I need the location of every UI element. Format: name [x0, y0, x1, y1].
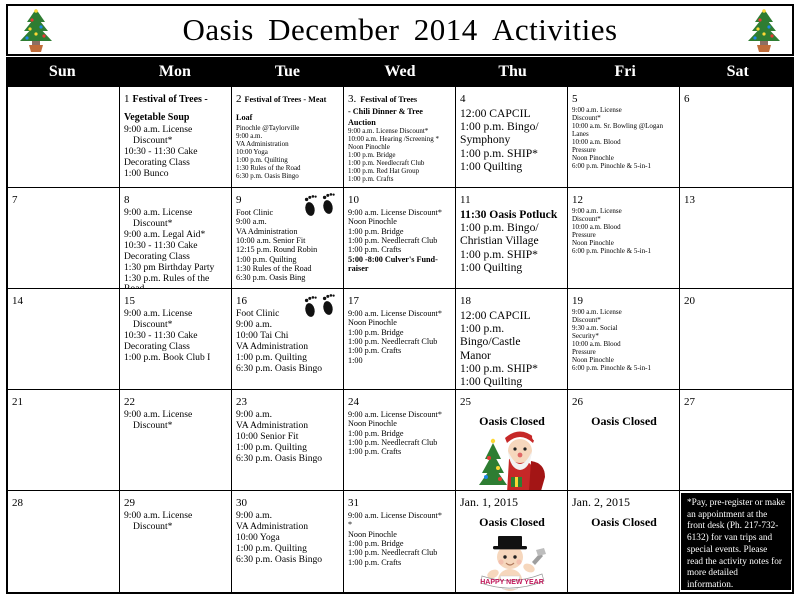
day-number: 26: [572, 396, 583, 408]
event-list: 11:30 Oasis Potluck1:00 p.m. Bingo/Chris…: [460, 208, 564, 274]
calendar-day-cell[interactable]: 109:00 a.m. License Discount*Noon Pinoch…: [344, 188, 456, 289]
day-header: 29: [124, 493, 228, 511]
day-number: 29: [124, 497, 135, 509]
calendar-day-cell[interactable]: 1812:00 CAPCIL1:00 p.m. Bingo/CastleMano…: [456, 289, 568, 390]
calendar-day-cell[interactable]: 27: [680, 390, 792, 491]
event-item[interactable]: 6:30 p.m. Oasis Bingo: [236, 173, 340, 181]
day-number: 23: [236, 396, 247, 408]
footprints-icon: [301, 190, 339, 220]
event-item[interactable]: 1:00 Bunco: [124, 169, 228, 180]
event-item[interactable]: 1:00 p.m. Bridge: [348, 539, 452, 548]
event-item[interactable]: 1:00 p.m. Bridge: [348, 328, 452, 337]
event-item[interactable]: 1:00 p.m. Needlecraft Club: [348, 337, 452, 346]
day-number: 4: [460, 93, 466, 105]
event-item[interactable]: VA Administration: [236, 227, 340, 236]
day-header: 2Festival of Trees - Meat Loaf: [236, 89, 340, 125]
event-item[interactable]: 9:00 a.m. License Discount*: [348, 208, 452, 217]
day-header: 14: [12, 291, 116, 309]
day-header: 10: [348, 190, 452, 208]
event-list: 9:00 a.m. License Discount**Noon Pinochl…: [348, 511, 452, 567]
event-item[interactable]: 6:30 p.m. Oasis Bingo: [236, 364, 340, 375]
day-title: Festival of Trees: [360, 95, 417, 104]
closed-label: Oasis Closed: [460, 414, 564, 429]
footprints-icon: [301, 291, 339, 321]
day-header: 5: [572, 89, 676, 107]
event-list: Pinochle @Taylorville9:00 a.m.VA Adminis…: [236, 125, 340, 181]
calendar-day-cell[interactable]: 7: [8, 188, 120, 289]
christmas-tree-icon-left: [14, 7, 58, 53]
event-item[interactable]: 6:30 p.m. Oasis Bingo: [236, 454, 340, 465]
event-item[interactable]: Noon Pinochle: [348, 318, 452, 327]
event-item[interactable]: 1:30 p.m. Rules of the Road: [124, 274, 228, 289]
event-item[interactable]: 1:00 p.m. Needlecraft Club: [348, 236, 452, 245]
day-header: 18: [460, 291, 564, 309]
event-item[interactable]: Noon Pinochle: [348, 419, 452, 428]
event-item[interactable]: 6:00 p.m. Pinochle & 5-in-1: [572, 163, 676, 171]
day-header: Jan. 2, 2015: [572, 493, 676, 511]
day-header: 7: [12, 190, 116, 208]
event-item[interactable]: 1:00 Quilting: [460, 375, 564, 388]
day-header: 25: [460, 392, 564, 410]
event-item[interactable]: 1:00 p.m. Bingo/Castle: [460, 322, 564, 348]
day-header: 4: [460, 89, 564, 107]
day-number: 25: [460, 396, 471, 408]
calendar-day-cell[interactable]: 6: [680, 87, 792, 188]
event-item[interactable]: Discount*: [124, 522, 228, 533]
day-number: 7: [12, 194, 18, 206]
day-header: 1Festival of Trees - Vegetable Soup: [124, 89, 228, 125]
weekday-wed: Wed: [344, 57, 457, 87]
day-number: 16: [236, 295, 247, 307]
event-item[interactable]: 1:00 Quilting: [460, 261, 564, 274]
event-list: 9:00 a.m. LicenseDiscount*10:30 - 11:30 …: [124, 125, 228, 180]
calendar-day-cell[interactable]: 59:00 a.m. License Discount*10:00 a.m. S…: [568, 87, 680, 188]
day-header: 28: [12, 493, 116, 511]
event-list: 9:00 a.m. License Discount*Noon Pinochle…: [348, 309, 452, 365]
event-list: 12:00 CAPCIL1:00 p.m. Bingo/Symphony1:00…: [460, 107, 564, 173]
event-list: 9:00 a.m. License Discount*10:00 a.m. He…: [348, 128, 452, 184]
day-header: 11: [460, 190, 564, 208]
event-item[interactable]: 1:00 p.m. Book Club I: [124, 353, 228, 364]
event-list: 9:00 a.m. License Discount*Noon Pinochle…: [348, 208, 452, 273]
day-header: Jan. 1, 2015: [460, 493, 564, 511]
day-number: 24: [348, 396, 359, 408]
day-number: 21: [12, 396, 23, 408]
event-item[interactable]: 1:00 p.m. Needlecraft Club: [348, 548, 452, 557]
event-item[interactable]: 9:00 a.m. License Discount*: [348, 309, 452, 318]
day-header: 3.Festival of Trees: [348, 89, 452, 107]
event-item[interactable]: 1:00 Quilting: [460, 160, 564, 173]
event-item[interactable]: 1:00 p.m. Crafts: [348, 447, 452, 456]
day-number: 13: [684, 194, 695, 206]
calendar-day-cell[interactable]: 179:00 a.m. License Discount*Noon Pinoch…: [344, 289, 456, 390]
day-number: 11: [460, 194, 471, 206]
event-item[interactable]: 1:00 p.m. Bingo/: [460, 221, 564, 234]
day-number: 22: [124, 396, 135, 408]
day-number: 2: [236, 93, 242, 105]
weekday-header-row: Sun Mon Tue Wed Thu Fri Sat: [6, 57, 794, 87]
event-item[interactable]: Discount*: [124, 421, 228, 432]
event-list: 9:00 a.m.VA Administration10:00 Senior F…: [236, 410, 340, 465]
calendar-day-cell[interactable]: [8, 87, 120, 188]
day-header: 15: [124, 291, 228, 309]
calendar-day-cell[interactable]: 199:00 a.m. License Discount*9:30 a.m. S…: [568, 289, 680, 390]
santa-icon: [473, 429, 551, 491]
calendar-day-cell[interactable]: 13: [680, 188, 792, 289]
day-number: 17: [348, 295, 359, 307]
day-number: 31: [348, 497, 359, 509]
calendar-day-cell[interactable]: 20: [680, 289, 792, 390]
event-item[interactable]: 5:00 -8:00 Culver's Fund-: [348, 255, 452, 264]
calendar-day-cell[interactable]: 28: [8, 491, 120, 592]
calendar-day-cell[interactable]: 319:00 a.m. License Discount**Noon Pinoc…: [344, 491, 456, 592]
calendar-day-cell[interactable]: 159:00 a.m. LicenseDiscount*10:30 - 11:3…: [120, 289, 232, 390]
event-item[interactable]: Christian Village: [460, 234, 564, 247]
weekday-fri: Fri: [569, 57, 682, 87]
event-item[interactable]: 1:00 p.m. Bridge: [348, 429, 452, 438]
day-number: 12: [572, 194, 583, 206]
event-item[interactable]: 1:00 p.m. Bridge: [348, 227, 452, 236]
day-number: 30: [236, 497, 247, 509]
event-list: 9:00 a.m. LicenseDiscount*: [124, 511, 228, 533]
event-item[interactable]: 11:30 Oasis Potluck: [460, 208, 564, 221]
event-list: 9:00 a.m.VA Administration10:00 Yoga1:00…: [236, 511, 340, 566]
event-item[interactable]: 1:00 p.m. SHIP*: [460, 248, 564, 261]
day-header: 27: [684, 392, 789, 410]
calendar-day-cell[interactable]: 26Oasis Closed: [568, 390, 680, 491]
day-header: 6: [684, 89, 789, 107]
weekday-tue: Tue: [231, 57, 344, 87]
event-list: 9:00 a.m. License Discount*Noon Pinochle…: [348, 410, 452, 457]
day-header: 12: [572, 190, 676, 208]
page-title: Oasis December 2014 Activities: [58, 12, 742, 48]
event-item[interactable]: 1:00 p.m. SHIP*: [460, 362, 564, 375]
event-item[interactable]: 10:00 a.m. Senior Fit: [236, 236, 340, 245]
calendar-day-cell[interactable]: 309:00 a.m.VA Administration10:00 Yoga1:…: [232, 491, 344, 592]
calendar-day-cell[interactable]: 21: [8, 390, 120, 491]
event-item[interactable]: raiser: [348, 264, 452, 273]
christmas-tree-icon-right: [742, 7, 786, 53]
event-item[interactable]: 1:00 p.m. Crafts: [348, 245, 452, 254]
weekday-mon: Mon: [119, 57, 232, 87]
calendar-page: Oasis December 2014 Activities Sun Mon T…: [0, 0, 800, 606]
day-title: Festival of Trees - Vegetable Soup: [124, 94, 208, 123]
event-item[interactable]: 1:00 p.m. Crafts: [348, 176, 452, 184]
event-list: 9:00 a.m. LicenseDiscount*9:00 a.m. Lega…: [124, 208, 228, 289]
calendar-day-cell[interactable]: 239:00 a.m.VA Administration10:00 Senior…: [232, 390, 344, 491]
day-number: 3.: [348, 93, 356, 105]
closed-label: Oasis Closed: [572, 414, 676, 429]
event-item[interactable]: 1:00 p.m. Needlecraft Club: [348, 438, 452, 447]
day-number: 10: [348, 194, 359, 206]
event-item[interactable]: 1:00: [348, 356, 452, 365]
event-item[interactable]: 1:00 p.m. Crafts: [348, 346, 452, 355]
day-number: 14: [12, 295, 23, 307]
event-item[interactable]: 12:00 CAPCIL: [460, 309, 564, 322]
title-word-3: Activities: [492, 12, 618, 47]
calendar-day-cell[interactable]: Jan. 2, 2015Oasis Closed: [568, 491, 680, 592]
event-item[interactable]: 6:30 p.m. Oasis Bingo: [236, 555, 340, 566]
calendar-day-cell[interactable]: 412:00 CAPCIL1:00 p.m. Bingo/Symphony1:0…: [456, 87, 568, 188]
event-item[interactable]: *: [348, 520, 452, 529]
event-list: 9:00 a.m. License Discount*9:30 a.m. Soc…: [572, 309, 676, 373]
day-number: 18: [460, 295, 471, 307]
event-item[interactable]: 6:30 p.m. Oasis Bing: [236, 273, 340, 282]
day-header: 30: [236, 493, 340, 511]
weekday-sun: Sun: [6, 57, 119, 87]
day-number: 8: [124, 194, 130, 206]
event-item[interactable]: Manor: [460, 349, 564, 362]
day-number: 19: [572, 295, 583, 307]
calendar-day-cell[interactable]: 1111:30 Oasis Potluck1:00 p.m. Bingo/Chr…: [456, 188, 568, 289]
calendar-day-cell[interactable]: 249:00 a.m. License Discount*Noon Pinoch…: [344, 390, 456, 491]
title-word-2: 2014: [414, 12, 478, 47]
event-item[interactable]: 1:00 p.m. Quilting: [236, 255, 340, 264]
calendar-grid: 1Festival of Trees - Vegetable Soup9:00 …: [6, 87, 794, 594]
event-item[interactable]: 12:15 p.m. Round Robin: [236, 245, 340, 254]
event-item[interactable]: 1:00 p.m. Bingo/: [460, 120, 564, 133]
new-year-baby-icon: HAPPY NEW YEAR: [470, 532, 554, 592]
event-item[interactable]: 12:00 CAPCIL: [460, 107, 564, 120]
day-number: 1: [124, 93, 130, 105]
day-title: Festival of Trees - Meat Loaf: [236, 95, 326, 122]
event-item[interactable]: 9:00 a.m. License Discount*: [348, 410, 452, 419]
day-number: 9: [236, 194, 242, 206]
calendar-day-cell[interactable]: 89:00 a.m. LicenseDiscount*9:00 a.m. Leg…: [120, 188, 232, 289]
day-number: 28: [12, 497, 23, 509]
event-item[interactable]: 9:00 a.m. License Discount*: [348, 511, 452, 520]
weekday-thu: Thu: [456, 57, 569, 87]
notes-cell: *Pay, pre-register or make an appointmen…: [680, 491, 792, 592]
calendar-day-cell[interactable]: 299:00 a.m. LicenseDiscount*: [120, 491, 232, 592]
event-item[interactable]: Symphony: [460, 133, 564, 146]
day-number: 5: [572, 93, 578, 105]
event-item[interactable]: Noon Pinochle: [348, 217, 452, 226]
day-header: 26: [572, 392, 676, 410]
calendar-day-cell[interactable]: 3.Festival of Trees- Chili Dinner & Tree…: [344, 87, 456, 188]
day-number: 27: [684, 396, 695, 408]
day-header: 21: [12, 392, 116, 410]
event-item[interactable]: 1:00 p.m. Quilting: [236, 353, 340, 364]
day-header: 20: [684, 291, 789, 309]
day-number: Jan. 2, 2015: [572, 495, 630, 509]
event-item[interactable]: Noon Pinochle: [348, 530, 452, 539]
event-list: 9:00 a.m. LicenseDiscount*: [124, 410, 228, 432]
event-item[interactable]: 1:00 p.m. SHIP*: [460, 147, 564, 160]
event-item[interactable]: Decorating Class: [124, 252, 228, 263]
calendar-day-cell[interactable]: 16Foot Clinic9:00 a.m.10:00 Tai ChiVA Ad…: [232, 289, 344, 390]
calendar-day-cell[interactable]: 9Foot Clinic9:00 a.m.VA Administration10…: [232, 188, 344, 289]
day-header: 23: [236, 392, 340, 410]
day-number: 6: [684, 93, 690, 105]
calendar-day-cell[interactable]: 14: [8, 289, 120, 390]
event-item[interactable]: 6:00 p.m. Pinochle & 5-in-1: [572, 365, 676, 373]
event-item[interactable]: 1:30 pm Birthday Party: [124, 263, 228, 274]
weekday-sat: Sat: [681, 57, 794, 87]
calendar-banner: Oasis December 2014 Activities: [6, 4, 794, 56]
title-word-1: December: [268, 12, 399, 47]
closed-label: Oasis Closed: [572, 515, 676, 530]
title-word-0: Oasis: [182, 12, 253, 47]
day-header: 13: [684, 190, 789, 208]
event-list: 12:00 CAPCIL1:00 p.m. Bingo/CastleManor1…: [460, 309, 564, 390]
event-list: 9:00 a.m. License Discount*10:00 a.m. Bl…: [572, 208, 676, 256]
calendar-day-cell[interactable]: 129:00 a.m. License Discount*10:00 a.m. …: [568, 188, 680, 289]
day-header: 31: [348, 493, 452, 511]
calendar-day-cell[interactable]: 25Oasis Closed: [456, 390, 568, 491]
calendar-day-cell[interactable]: 229:00 a.m. LicenseDiscount*: [120, 390, 232, 491]
day-subtitle: - Chili Dinner & Tree Auction: [348, 107, 452, 128]
calendar-day-cell[interactable]: 1Festival of Trees - Vegetable Soup9:00 …: [120, 87, 232, 188]
event-item[interactable]: 6:00 p.m. Pinochle & 5-in-1: [572, 248, 676, 256]
day-number: 15: [124, 295, 135, 307]
day-number: Jan. 1, 2015: [460, 495, 518, 509]
event-item[interactable]: 1:00 p.m. Crafts: [348, 558, 452, 567]
day-header: 22: [124, 392, 228, 410]
day-number: 20: [684, 295, 695, 307]
activity-notes: *Pay, pre-register or make an appointmen…: [681, 493, 791, 590]
day-header: 17: [348, 291, 452, 309]
day-header: 24: [348, 392, 452, 410]
calendar-day-cell[interactable]: 2Festival of Trees - Meat LoafPinochle @…: [232, 87, 344, 188]
closed-label: Oasis Closed: [460, 515, 564, 530]
event-list: 9:00 a.m. License Discount*10:00 a.m. Sr…: [572, 107, 676, 171]
svg-text:HAPPY NEW YEAR: HAPPY NEW YEAR: [480, 579, 544, 586]
calendar-day-cell[interactable]: Jan. 1, 2015Oasis Closed HAPPY NEW YEAR: [456, 491, 568, 592]
day-header: 19: [572, 291, 676, 309]
event-item[interactable]: 1:30 Rules of the Road: [236, 264, 340, 273]
event-list: 9:00 a.m. LicenseDiscount*10:30 - 11:30 …: [124, 309, 228, 364]
day-header: 8: [124, 190, 228, 208]
